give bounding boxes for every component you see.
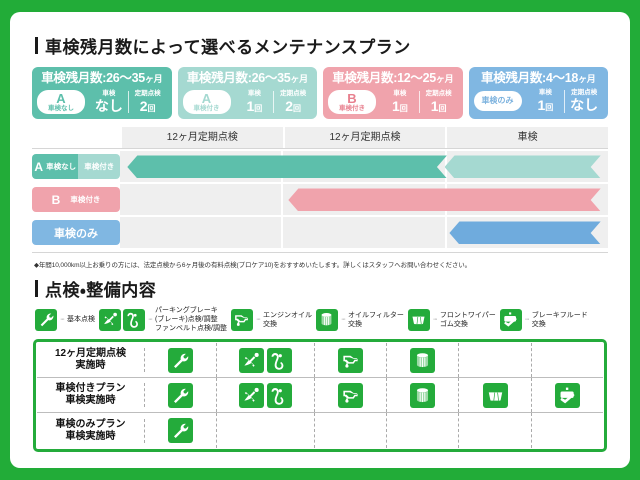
plan-stat-teiki: 定期点検 2回 bbox=[128, 91, 167, 114]
section1-heading-text: 車検残月数によって選べるメンテナンスプラン bbox=[45, 33, 411, 58]
legend-icons bbox=[99, 309, 145, 331]
timeline-label-seg-no-shaken: A 車検なし bbox=[32, 154, 78, 179]
matrix-cell-engine-oil bbox=[315, 343, 387, 377]
matrix-cell-oil-filter bbox=[387, 413, 459, 448]
plan-card-months: 車検残月数:4〜18ヶ月 bbox=[474, 71, 604, 87]
plan-badge-sub: 車検なし bbox=[41, 106, 81, 113]
legend-dots: ··· bbox=[256, 316, 260, 323]
matrix-cell-oil-filter bbox=[387, 378, 459, 412]
matrix-row-label: 車検のみプラン 車検実施時 bbox=[37, 419, 145, 443]
plan-badge-letter: A bbox=[187, 92, 227, 106]
heading-tick-icon bbox=[35, 37, 38, 54]
timeline-header-spacer bbox=[32, 127, 120, 148]
legend-dots: ··· bbox=[433, 316, 437, 323]
plan-badge-sub: 車検付き bbox=[187, 106, 227, 113]
parking-brake-icon bbox=[99, 309, 121, 331]
content-panel: 車検残月数によって選べるメンテナンスプラン 車検残月数:26〜35ヶ月 A 車検… bbox=[10, 12, 630, 468]
page-root: 車検残月数によって選べるメンテナンスプラン 車検残月数:26〜35ヶ月 A 車検… bbox=[0, 0, 640, 480]
matrix-cell-oil-filter bbox=[387, 343, 459, 377]
plan-badge-sub: 車検付き bbox=[332, 106, 372, 113]
timeline-row-b: B 車検付き bbox=[32, 184, 608, 215]
timeline-col-3: 車検 bbox=[445, 127, 608, 148]
engine-oil-icon bbox=[338, 383, 363, 408]
legend-icons bbox=[408, 309, 430, 331]
matrix-cell-brake-fluid bbox=[532, 343, 603, 377]
fan-belt-icon bbox=[267, 383, 292, 408]
legend-dots: ··· bbox=[525, 316, 529, 323]
plan-stat-shaken: 車検 1回 bbox=[236, 91, 274, 114]
section2-heading: 点検・整備内容 bbox=[35, 276, 618, 301]
timeline-track-a bbox=[120, 151, 608, 182]
timeline-col-1: 12ヶ月定期点検 bbox=[120, 127, 283, 148]
legend-item-brake-fluid: ··· ブレーキフルード 交換 bbox=[500, 309, 588, 331]
fan-belt-icon bbox=[267, 348, 292, 373]
plan-card-months: 車検残月数:26〜35ヶ月 bbox=[37, 71, 167, 87]
engine-oil-icon bbox=[231, 309, 253, 331]
icon-legend: ··· 基本点検 ··· パーキングブレーキ (ブレーキ)点検/調整 ファンベル… bbox=[35, 306, 618, 333]
matrix-cell-brake-belt bbox=[217, 413, 314, 448]
legend-icons bbox=[231, 309, 253, 331]
oil-filter-icon bbox=[410, 383, 435, 408]
legend-label: 基本点検 bbox=[67, 315, 95, 324]
plan-card-months: 車検残月数:12〜25ヶ月 bbox=[328, 71, 458, 87]
legend-label: オイルフィルター 交換 bbox=[348, 311, 404, 329]
matrix-cell-brake-belt bbox=[217, 378, 314, 412]
timeline-cell bbox=[120, 151, 281, 182]
matrix-row-label: 12ヶ月定期点検 実施時 bbox=[37, 348, 145, 372]
plan-timeline: 12ヶ月定期点検 12ヶ月定期点検 車検 A 車検なし 車検付き bbox=[32, 127, 608, 253]
timeline-track-b bbox=[120, 184, 608, 215]
legend-dots: ··· bbox=[148, 316, 152, 323]
matrix-row-label: 車検付きプラン 車検実施時 bbox=[37, 383, 145, 407]
engine-oil-icon bbox=[338, 348, 363, 373]
plan-stat-teiki: 定期点検 1回 bbox=[419, 91, 458, 114]
table-row: 車検付きプラン 車検実施時 bbox=[37, 378, 603, 413]
matrix-cell-basic bbox=[145, 413, 217, 448]
oil-filter-icon bbox=[410, 348, 435, 373]
matrix-cell-wiper bbox=[459, 413, 531, 448]
legend-label: ブレーキフルード 交換 bbox=[532, 311, 588, 329]
matrix-cell-basic bbox=[145, 378, 217, 412]
heading-tick-icon bbox=[35, 280, 38, 297]
legend-icons bbox=[316, 309, 338, 331]
plan-badge: A 車検なし bbox=[37, 90, 85, 114]
legend-item-parking-brake-fan-belt: ··· パーキングブレーキ (ブレーキ)点検/調整 ファンベルト点検/調整 bbox=[99, 306, 227, 333]
timeline-row-label-c: 車検のみ bbox=[32, 220, 120, 245]
timeline-row-label-a: A 車検なし 車検付き bbox=[32, 154, 120, 179]
plan-badge: B 車検付き bbox=[328, 90, 376, 114]
timeline-cell bbox=[281, 217, 444, 248]
timeline-cell bbox=[281, 151, 444, 182]
matrix-cell-engine-oil bbox=[315, 378, 387, 412]
oil-filter-icon bbox=[316, 309, 338, 331]
timeline-cell bbox=[445, 151, 608, 182]
matrix-cell-brake-fluid bbox=[532, 413, 603, 448]
legend-label: エンジンオイル 交換 bbox=[263, 311, 312, 329]
timeline-bottom-divider bbox=[32, 252, 608, 253]
fan-belt-icon bbox=[123, 309, 145, 331]
plan-stat-shaken: 車検 1回 bbox=[527, 90, 565, 113]
plan-card-a-no-shaken[interactable]: 車検残月数:26〜35ヶ月 A 車検なし 車検 なし 定期点検 2回 bbox=[32, 67, 172, 119]
plan-badge: 車検のみ bbox=[474, 91, 522, 111]
maintenance-matrix-table: 12ヶ月定期点検 実施時 bbox=[33, 339, 607, 452]
timeline-col-2: 12ヶ月定期点検 bbox=[283, 127, 446, 148]
plan-card-list: 車検残月数:26〜35ヶ月 A 車検なし 車検 なし 定期点検 2回 bbox=[22, 67, 618, 119]
matrix-cell-wiper bbox=[459, 378, 531, 412]
plan-badge-sub: 車検のみ bbox=[478, 97, 518, 105]
plan-stat-shaken: 車検 なし bbox=[90, 91, 128, 114]
matrix-cell-basic bbox=[145, 343, 217, 377]
matrix-cell-engine-oil bbox=[315, 413, 387, 448]
wrench-icon bbox=[168, 348, 193, 373]
wrench-icon bbox=[168, 418, 193, 443]
legend-label: フロントワイパー ゴム交換 bbox=[440, 311, 496, 329]
legend-item-engine-oil: ··· エンジンオイル 交換 bbox=[231, 309, 312, 331]
plan-card-a-with-shaken[interactable]: 車検残月数:26〜35ヶ月 A 車検付き 車検 1回 定期点検 2回 bbox=[178, 67, 318, 119]
plan-stat-teiki: 定期点検 なし bbox=[564, 90, 603, 113]
legend-label: パーキングブレーキ (ブレーキ)点検/調整 ファンベルト点検/調整 bbox=[155, 306, 227, 333]
plan-badge: A 車検付き bbox=[183, 90, 231, 114]
plan-badge-letter: B bbox=[332, 92, 372, 106]
parking-brake-icon bbox=[239, 348, 264, 373]
timeline-note: ◆年間10,000km以上お乗りの方には、法定点検から6ヶ月後の有料点検(プロケ… bbox=[34, 259, 606, 269]
timeline-row-label-b: B 車検付き bbox=[32, 187, 120, 212]
brake-fluid-icon bbox=[555, 383, 580, 408]
legend-item-oil-filter: ··· オイルフィルター 交換 bbox=[316, 309, 404, 331]
timeline-cell bbox=[445, 217, 608, 248]
legend-dots: ··· bbox=[60, 316, 64, 323]
table-row: 車検のみプラン 車検実施時 bbox=[37, 413, 603, 448]
section2-heading-text: 点検・整備内容 bbox=[45, 276, 156, 301]
legend-icons bbox=[35, 309, 57, 331]
matrix-cell-brake-belt bbox=[217, 343, 314, 377]
brake-fluid-icon bbox=[500, 309, 522, 331]
timeline-cell bbox=[120, 217, 281, 248]
wrench-icon bbox=[35, 309, 57, 331]
plan-badge-letter: A bbox=[41, 92, 81, 106]
table-row: 12ヶ月定期点検 実施時 bbox=[37, 343, 603, 378]
legend-item-basic-inspection: ··· 基本点検 bbox=[35, 309, 95, 331]
legend-icons bbox=[500, 309, 522, 331]
timeline-label-seg-with-shaken: 車検付き bbox=[78, 154, 120, 179]
timeline-track-c bbox=[120, 217, 608, 248]
wiper-icon bbox=[483, 383, 508, 408]
section1-heading: 車検残月数によって選べるメンテナンスプラン bbox=[35, 33, 618, 58]
wrench-icon bbox=[168, 383, 193, 408]
plan-stat-shaken: 車検 1回 bbox=[381, 91, 419, 114]
plan-card-shaken-only[interactable]: 車検残月数:4〜18ヶ月 車検のみ 車検 1回 定期点検 なし bbox=[469, 67, 609, 119]
timeline-cell bbox=[120, 184, 281, 215]
parking-brake-icon bbox=[239, 383, 264, 408]
matrix-cell-wiper bbox=[459, 343, 531, 377]
wiper-icon bbox=[408, 309, 430, 331]
legend-dots: ··· bbox=[341, 316, 345, 323]
plan-card-b[interactable]: 車検残月数:12〜25ヶ月 B 車検付き 車検 1回 定期点検 1回 bbox=[323, 67, 463, 119]
timeline-row-c: 車検のみ bbox=[32, 217, 608, 248]
timeline-header: 12ヶ月定期点検 12ヶ月定期点検 車検 bbox=[32, 127, 608, 149]
timeline-body: A 車検なし 車検付き bbox=[32, 151, 608, 248]
matrix-cell-brake-fluid bbox=[532, 378, 603, 412]
timeline-cell bbox=[445, 184, 608, 215]
timeline-row-a: A 車検なし 車検付き bbox=[32, 151, 608, 182]
plan-stat-teiki: 定期点検 2回 bbox=[273, 91, 312, 114]
plan-card-months: 車検残月数:26〜35ヶ月 bbox=[183, 71, 313, 87]
timeline-cell bbox=[281, 184, 444, 215]
legend-item-wiper: ··· フロントワイパー ゴム交換 bbox=[408, 309, 496, 331]
